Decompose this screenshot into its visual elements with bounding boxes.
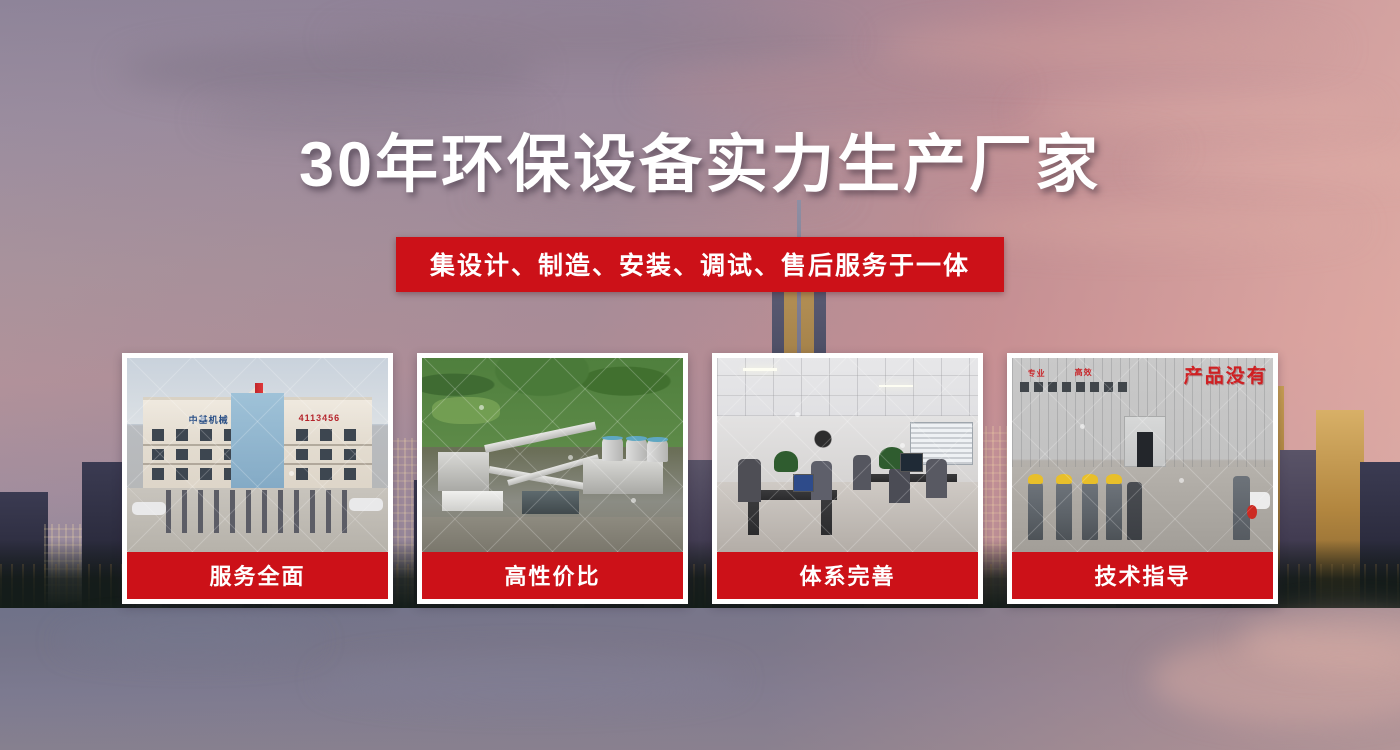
feature-card-list: 中基机械 4113456 服务全面 bbox=[122, 353, 1278, 604]
cloud-shape bbox=[880, 24, 1340, 70]
cloud-shape bbox=[330, 18, 850, 62]
subtitle-banner: 集设计、制造、安装、调试、售后服务于一体 bbox=[0, 237, 1400, 292]
promo-banner: 30年环保设备实力生产厂家 集设计、制造、安装、调试、售后服务于一体 中基机械 … bbox=[0, 0, 1400, 750]
feature-card-label: 服务全面 bbox=[127, 552, 388, 599]
feature-card-label: 高性价比 bbox=[422, 552, 683, 599]
feature-card[interactable]: 产品没有 专业 高效 技术指导 bbox=[1007, 353, 1278, 604]
office-interior-photo bbox=[717, 358, 978, 552]
factory-sign-text: 产品没有 bbox=[1184, 361, 1268, 388]
company-building-staff-photo: 中基机械 4113456 bbox=[127, 358, 388, 552]
feature-card[interactable]: 体系完善 bbox=[712, 353, 983, 604]
factory-slogan-two: 高效 bbox=[1075, 367, 1093, 378]
building-phone-text: 4113456 bbox=[299, 413, 341, 423]
workers-factory-photo: 产品没有 专业 高效 bbox=[1012, 358, 1273, 552]
cloud-shape bbox=[1020, 96, 1380, 130]
feature-card[interactable]: 高性价比 bbox=[417, 353, 688, 604]
subtitle-text: 集设计、制造、安装、调试、售后服务于一体 bbox=[396, 237, 1004, 292]
building-sign-text: 中基机械 bbox=[189, 413, 229, 426]
aerial-factory-plant-photo bbox=[422, 358, 683, 552]
cloud-shape bbox=[640, 70, 1020, 108]
feature-card-label: 技术指导 bbox=[1012, 552, 1273, 599]
factory-slogan-one: 专业 bbox=[1028, 368, 1046, 379]
page-title: 30年环保设备实力生产厂家 bbox=[0, 132, 1400, 198]
feature-card[interactable]: 中基机械 4113456 服务全面 bbox=[122, 353, 393, 604]
river-water bbox=[0, 608, 1400, 750]
feature-card-label: 体系完善 bbox=[717, 552, 978, 599]
